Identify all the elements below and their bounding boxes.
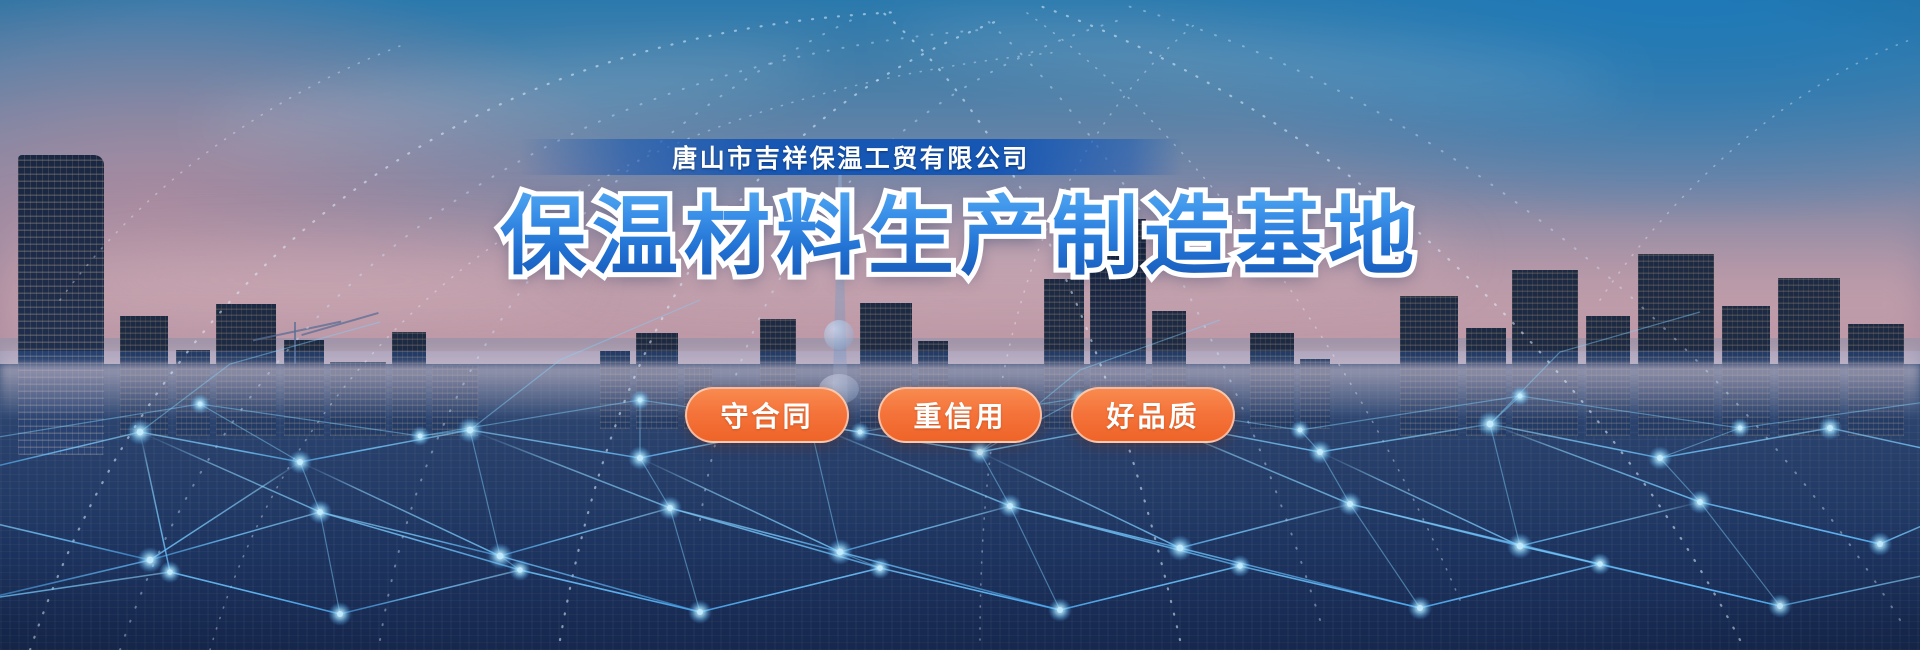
company-name-text: 唐山市吉祥保温工贸有限公司 [672,139,1030,175]
badge-zhong-xin-yong[interactable]: 重信用 [878,387,1042,443]
headline-fill-layer: 保温材料生产制造基地 [0,182,1920,292]
badge-label: 好品质 [1106,395,1199,435]
company-name-bar: 唐山市吉祥保温工贸有限公司 [520,139,1182,175]
headline-text: 保温材料生产制造基地 [500,182,1420,292]
badge-shou-he-tong[interactable]: 守合同 [685,387,849,443]
hero-banner: .arc{fill:none;stroke:#dff0ff;stroke-wid… [0,0,1920,650]
badge-row: 守合同 重信用 好品质 [0,387,1920,443]
banner-content: 唐山市吉祥保温工贸有限公司 保温材料生产制造基地 保温材料生产制造基地 守合同 … [0,0,1920,650]
badge-label: 守合同 [720,395,813,435]
badge-hao-pin-zhi[interactable]: 好品质 [1071,387,1235,443]
badge-label: 重信用 [913,395,1006,435]
headline-block: 保温材料生产制造基地 保温材料生产制造基地 [0,182,1920,292]
